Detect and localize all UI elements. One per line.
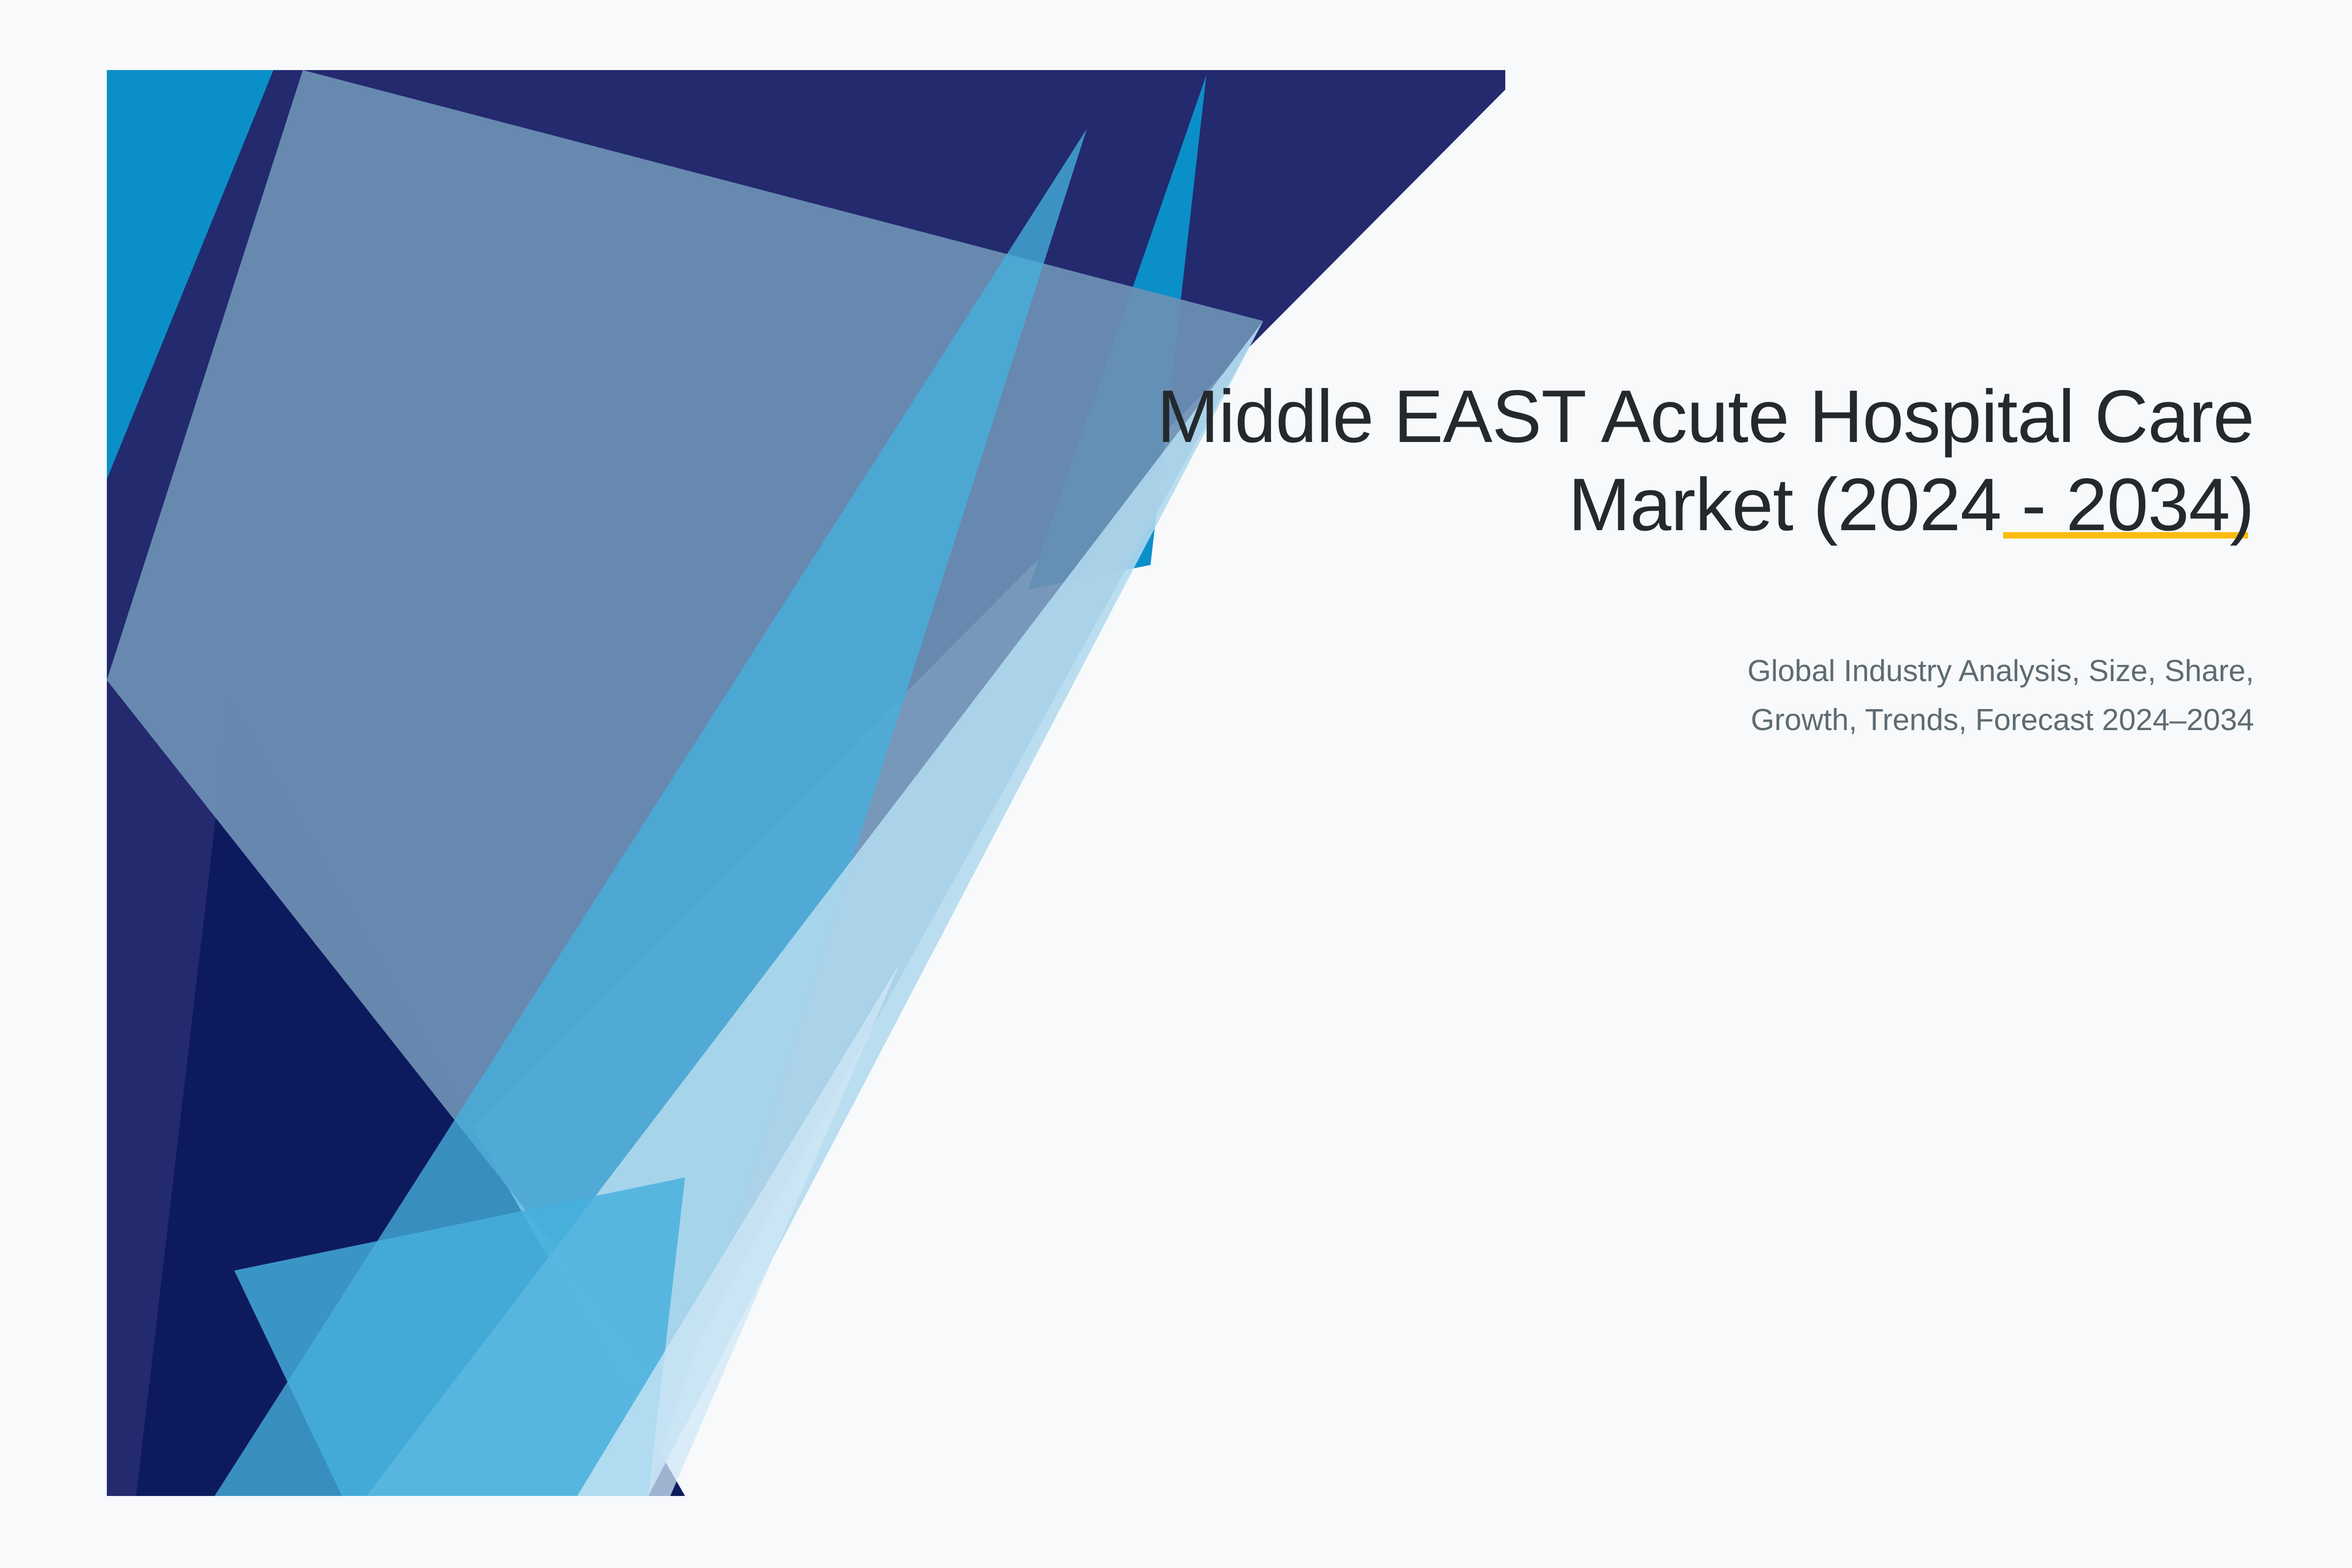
subtitle-line-1: Global Industry Analysis, Size, Share,: [1747, 654, 2254, 688]
page-subtitle: Global Industry Analysis, Size, Share,Gr…: [1000, 647, 2254, 745]
cover-text-block: Middle EAST Acute Hospital Care Market (…: [1000, 372, 2254, 745]
subtitle-line-2: Growth, Trends, Forecast 2024–2034: [1751, 703, 2254, 737]
cover-page: Middle EAST Acute Hospital Care Market (…: [0, 0, 2352, 1568]
artwork-svg: [107, 70, 1508, 1496]
abstract-geometric-artwork: [107, 70, 1508, 1496]
page-title: Middle EAST Acute Hospital Care Market (…: [1000, 372, 2254, 549]
